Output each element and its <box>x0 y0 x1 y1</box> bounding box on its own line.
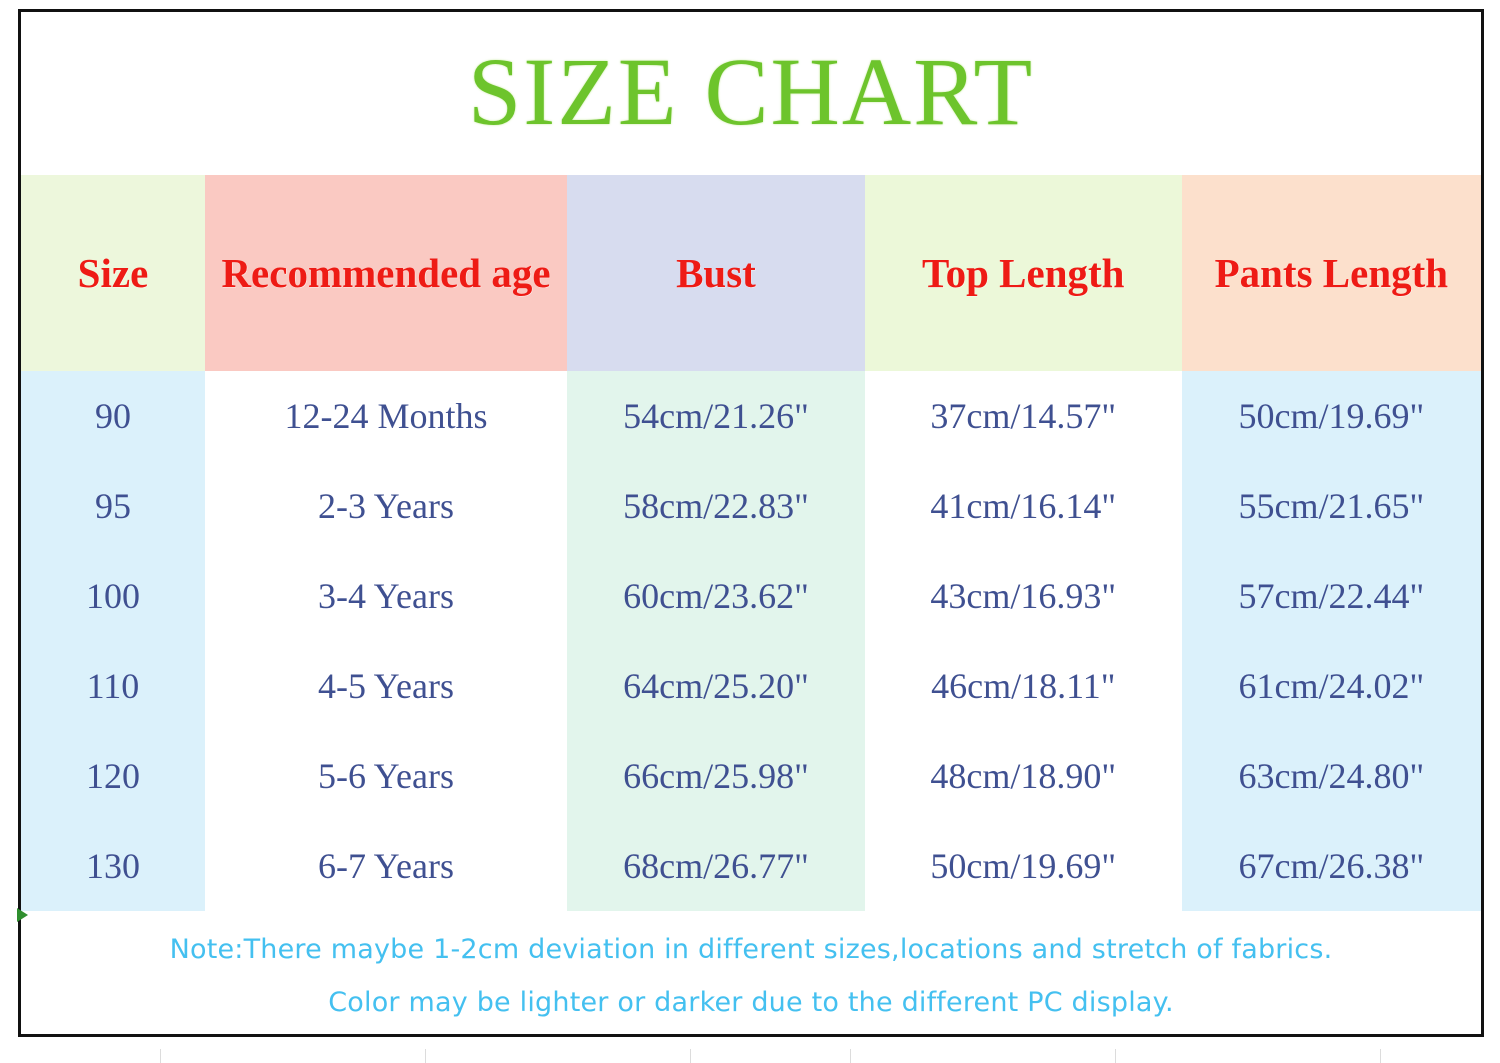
ruler-tick <box>425 1049 426 1063</box>
cell-pants-length: 50cm/19.69" <box>1182 371 1481 461</box>
cell-pants-length: 61cm/24.02" <box>1182 641 1481 731</box>
table-row: 110 4-5 Years 64cm/25.20" 46cm/18.11" 61… <box>21 641 1481 731</box>
cell-size: 95 <box>21 461 205 551</box>
cell-bust: 54cm/21.26" <box>567 371 865 461</box>
cell-age: 3-4 Years <box>205 551 567 641</box>
column-header-pants-length: Pants Length <box>1182 175 1481 371</box>
cell-size: 130 <box>21 821 205 911</box>
cell-bust: 68cm/26.77" <box>567 821 865 911</box>
ruler-tick <box>160 1049 161 1063</box>
cell-size: 90 <box>21 371 205 461</box>
cell-top-length: 48cm/18.90" <box>865 731 1182 821</box>
notes-area: Note:There maybe 1-2cm deviation in diff… <box>21 924 1481 1029</box>
column-header-bust: Bust <box>567 175 865 371</box>
cell-bust: 66cm/25.98" <box>567 731 865 821</box>
cell-age: 6-7 Years <box>205 821 567 911</box>
ruler-tick <box>1380 1049 1381 1063</box>
cell-size: 120 <box>21 731 205 821</box>
cell-bust: 60cm/23.62" <box>567 551 865 641</box>
cell-pants-length: 57cm/22.44" <box>1182 551 1481 641</box>
title-area: SIZE CHART <box>21 12 1481 172</box>
ruler-tick <box>690 1049 691 1063</box>
size-chart-frame: SIZE CHART Size Recommended age Bust Top… <box>18 9 1484 1037</box>
cell-bust: 58cm/22.83" <box>567 461 865 551</box>
column-header-top-length: Top Length <box>865 175 1182 371</box>
size-chart-table: Size Recommended age Bust Top Length Pan… <box>21 175 1481 911</box>
cell-pants-length: 55cm/21.65" <box>1182 461 1481 551</box>
cell-age: 12-24 Months <box>205 371 567 461</box>
table-row: 95 2-3 Years 58cm/22.83" 41cm/16.14" 55c… <box>21 461 1481 551</box>
note-color: Color may be lighter or darker due to th… <box>21 977 1481 1030</box>
table-header-row: Size Recommended age Bust Top Length Pan… <box>21 175 1481 371</box>
cell-top-length: 37cm/14.57" <box>865 371 1182 461</box>
table-row: 130 6-7 Years 68cm/26.77" 50cm/19.69" 67… <box>21 821 1481 911</box>
ruler-tick <box>1115 1049 1116 1063</box>
table-row: 100 3-4 Years 60cm/23.62" 43cm/16.93" 57… <box>21 551 1481 641</box>
cell-age: 2-3 Years <box>205 461 567 551</box>
column-header-size: Size <box>21 175 205 371</box>
cell-pants-length: 63cm/24.80" <box>1182 731 1481 821</box>
cell-age: 5-6 Years <box>205 731 567 821</box>
page-title: SIZE CHART <box>468 44 1034 140</box>
green-corner-marker-icon <box>17 908 28 922</box>
table-row: 120 5-6 Years 66cm/25.98" 48cm/18.90" 63… <box>21 731 1481 821</box>
cell-top-length: 50cm/19.69" <box>865 821 1182 911</box>
cell-size: 100 <box>21 551 205 641</box>
ruler-tick <box>850 1049 851 1063</box>
cell-pants-length: 67cm/26.38" <box>1182 821 1481 911</box>
cell-top-length: 41cm/16.14" <box>865 461 1182 551</box>
column-header-age: Recommended age <box>205 175 567 371</box>
note-deviation: Note:There maybe 1-2cm deviation in diff… <box>21 924 1481 977</box>
cell-age: 4-5 Years <box>205 641 567 731</box>
cell-top-length: 43cm/16.93" <box>865 551 1182 641</box>
cell-top-length: 46cm/18.11" <box>865 641 1182 731</box>
cell-bust: 64cm/25.20" <box>567 641 865 731</box>
cell-size: 110 <box>21 641 205 731</box>
table-row: 90 12-24 Months 54cm/21.26" 37cm/14.57" … <box>21 371 1481 461</box>
